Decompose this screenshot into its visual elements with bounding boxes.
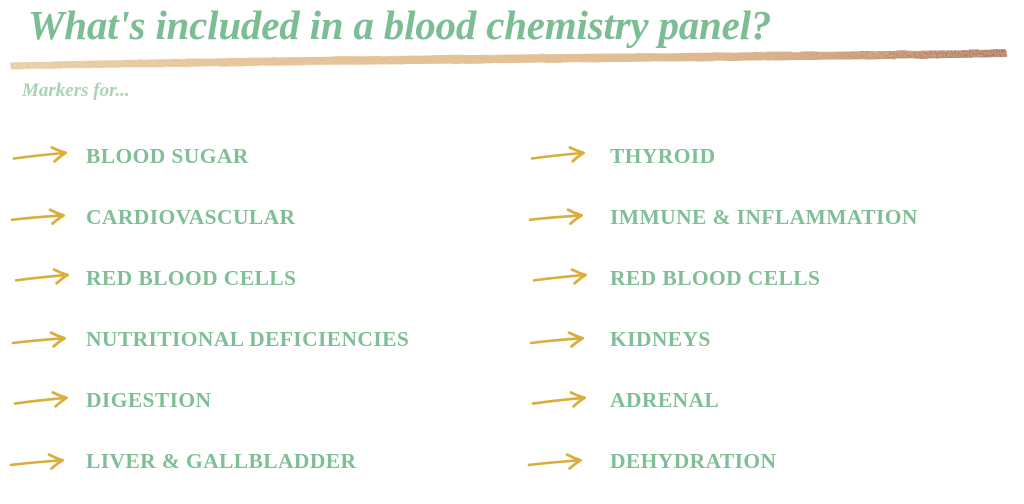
arrow-right-icon <box>10 204 74 231</box>
list-item-label: DEHYDRATION <box>610 449 776 474</box>
list-item: DEHYDRATION <box>528 431 1024 492</box>
right-column: THYROID IMMUNE & INFLAMMATION RED BLOOD … <box>528 126 1024 492</box>
list-item: LIVER & GALLBLADDER <box>10 431 510 492</box>
list-item: KIDNEYS <box>528 309 1024 370</box>
list-item: BLOOD SUGAR <box>10 126 510 187</box>
brush-stroke-divider <box>8 48 1010 70</box>
arrow-right-icon <box>532 264 596 290</box>
arrow-right-icon <box>13 387 77 414</box>
list-item: DIGESTION <box>10 370 510 431</box>
list-item-label: RED BLOOD CELLS <box>86 266 296 291</box>
arrow-right-icon <box>9 449 73 476</box>
list-item-label: CARDIOVASCULAR <box>86 205 295 230</box>
list-item-label: THYROID <box>610 144 716 169</box>
arrow-right-icon <box>530 142 594 169</box>
list-item-label: KIDNEYS <box>610 327 711 352</box>
list-item-label: DIGESTION <box>86 388 211 413</box>
list-item-label: NUTRITIONAL DEFICIENCIES <box>86 327 409 352</box>
arrow-right-icon <box>528 204 592 231</box>
arrow-right-icon <box>527 449 591 476</box>
subtitle-markers-for: Markers for... <box>22 80 130 102</box>
list-item: RED BLOOD CELLS <box>528 248 1024 309</box>
left-column: BLOOD SUGAR CARDIOVASCULAR RED BLOOD CEL… <box>10 126 510 492</box>
infographic-poster: What's included in a blood chemistry pan… <box>0 0 1024 504</box>
arrow-right-icon <box>12 142 76 169</box>
list-item: NUTRITIONAL DEFICIENCIES <box>10 309 510 370</box>
list-item: CARDIOVASCULAR <box>10 187 510 248</box>
list-item-label: BLOOD SUGAR <box>86 144 249 169</box>
arrow-right-icon <box>14 264 78 290</box>
arrow-right-icon <box>531 387 595 414</box>
list-item-label: IMMUNE & INFLAMMATION <box>610 205 918 230</box>
arrow-right-icon <box>11 327 75 353</box>
list-item: ADRENAL <box>528 370 1024 431</box>
list-item: IMMUNE & INFLAMMATION <box>528 187 1024 248</box>
page-title: What's included in a blood chemistry pan… <box>28 2 771 48</box>
arrow-right-icon <box>529 327 593 353</box>
list-item-label: LIVER & GALLBLADDER <box>86 449 356 474</box>
list-item-label: ADRENAL <box>610 388 719 413</box>
list-item: THYROID <box>528 126 1024 187</box>
list-item-label: RED BLOOD CELLS <box>610 266 820 291</box>
list-item: RED BLOOD CELLS <box>10 248 510 309</box>
